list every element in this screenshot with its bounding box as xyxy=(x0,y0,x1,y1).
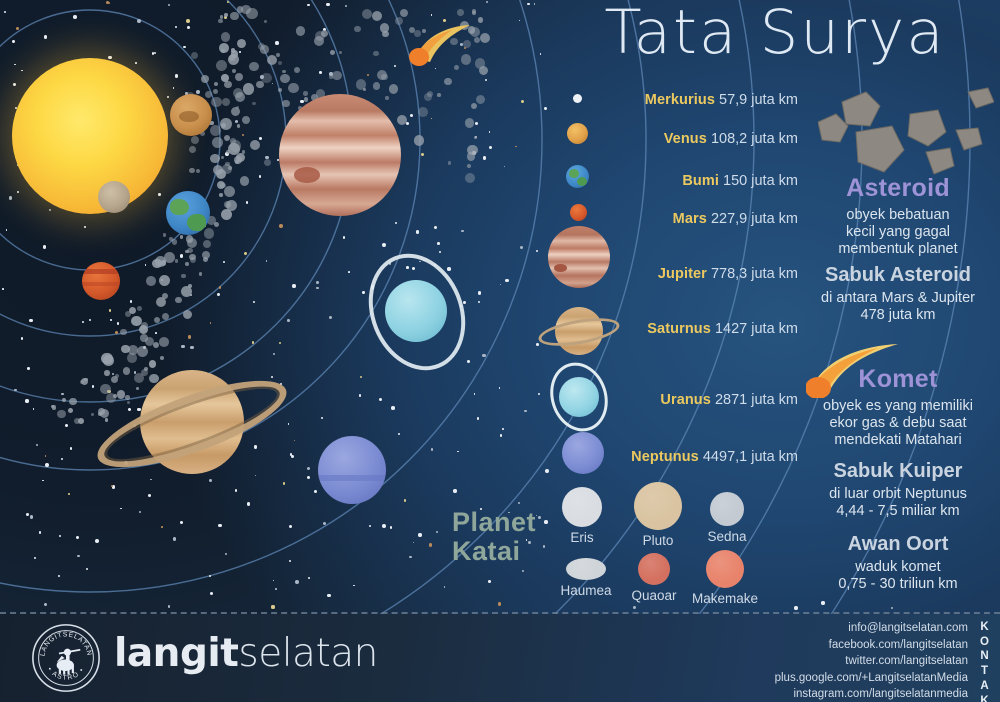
planet-row-saturnus: Saturnus 1427 juta km xyxy=(647,321,798,337)
contact-list: info@langitselatan.comfacebook.com/langi… xyxy=(718,620,968,702)
mercury-list-icon xyxy=(573,94,582,103)
dwarf-planet-quaoar: Quaoar xyxy=(618,553,690,603)
planet-distance: 150 juta km xyxy=(719,173,798,189)
sun-graphic xyxy=(12,58,168,214)
kontak-letter: N xyxy=(976,649,994,664)
contact-line[interactable]: info@langitselatan.com xyxy=(718,620,968,637)
planet-name: Jupiter xyxy=(658,266,707,282)
dwarf-planet-makemake: Makemake xyxy=(689,550,761,606)
sabuk-kuiper-block: Sabuk Kuiper di luar orbit Neptunus 4,44… xyxy=(802,460,994,520)
dwarf-planet-haumea: Haumea xyxy=(550,558,622,598)
mercury-orbit-graphic xyxy=(98,181,130,213)
planet-name: Venus xyxy=(664,131,707,147)
planet-row-uranus: Uranus 2871 juta km xyxy=(660,392,798,408)
planet-row-merkurius: Merkurius 57,9 juta km xyxy=(645,92,798,108)
kontak-letter: T xyxy=(976,664,994,679)
contact-line[interactable]: facebook.com/langitselatan xyxy=(718,637,968,654)
dwarf-planet-label: Eris xyxy=(546,530,618,545)
planet-distance: 778,3 juta km xyxy=(707,266,798,282)
sabuk-kuiper-heading: Sabuk Kuiper xyxy=(802,460,994,483)
earth-orbit-graphic xyxy=(166,191,210,235)
neptunus-list-icon xyxy=(562,432,604,474)
langitselatan-logo-icon: LANGITSELATAN • ASTRO • xyxy=(30,622,102,694)
planet-distance: 1427 juta km xyxy=(711,321,798,337)
dwarf-planet-pluto: Pluto xyxy=(622,482,694,548)
planet-name: Bumi xyxy=(682,173,719,189)
venus-orbit-graphic xyxy=(170,94,212,136)
dwarf-planet-label: Sedna xyxy=(691,529,763,544)
mars-orbit-graphic xyxy=(82,262,120,300)
planet-distance: 227,9 juta km xyxy=(707,211,798,227)
contact-line[interactable]: instagram.com/langitselatanmedia xyxy=(718,686,968,702)
comet-graphic xyxy=(408,22,480,66)
planet-row-neptunus: Neptunus 4497,1 juta km xyxy=(631,449,798,465)
komet-block: Komet obyek es yang memiliki ekor gas & … xyxy=(802,365,994,449)
komet-heading: Komet xyxy=(802,365,994,394)
brand-wordmark: langitselatan xyxy=(114,634,378,673)
planet-name: Neptunus xyxy=(631,449,699,465)
dwarf-planet-disc xyxy=(562,487,602,527)
dwarf-planet-disc xyxy=(634,482,682,530)
dwarf-planet-label: Quaoar xyxy=(618,588,690,603)
sabuk-kuiper-body: di luar orbit Neptunus 4,44 - 7,5 miliar… xyxy=(802,486,994,520)
asteroid-block: Asteroid obyek bebatuan kecil yang gagal… xyxy=(802,174,994,258)
sabuk-asteroid-block: Sabuk Asteroid di antara Mars & Jupiter … xyxy=(802,264,994,324)
dwarf-planet-label: Pluto xyxy=(622,533,694,548)
footer-divider xyxy=(0,612,1000,614)
kontak-letter: O xyxy=(976,635,994,650)
asteroid-heading: Asteroid xyxy=(802,174,994,203)
planet-name: Mars xyxy=(673,211,707,227)
planet-row-jupiter: Jupiter 778,3 juta km xyxy=(658,266,798,282)
planet-distance: 2871 juta km xyxy=(711,392,798,408)
jupiter-list-icon xyxy=(548,226,610,288)
komet-body: obyek es yang memiliki ekor gas & debu s… xyxy=(802,398,994,449)
awan-oort-block: Awan Oort waduk komet 0,75 - 30 triliun … xyxy=(802,533,994,593)
solar-system-infographic: Tata Surya Merkurius 57,9 juta kmVenus 1… xyxy=(0,0,1000,702)
dwarf-planet-disc xyxy=(566,558,606,580)
asteroid-cluster-graphic xyxy=(818,86,994,182)
awan-oort-heading: Awan Oort xyxy=(802,533,994,556)
contact-line[interactable]: twitter.com/langitselatan xyxy=(718,653,968,670)
dwarf-planet-label: Haumea xyxy=(550,583,622,598)
planet-row-bumi: Bumi 150 juta km xyxy=(682,173,798,189)
dwarf-planet-eris: Eris xyxy=(546,487,618,545)
sabuk-asteroid-heading: Sabuk Asteroid xyxy=(802,264,994,287)
planet-distance: 57,9 juta km xyxy=(715,92,798,108)
sabuk-asteroid-body: di antara Mars & Jupiter 478 juta km xyxy=(802,290,994,324)
planet-name: Uranus xyxy=(660,392,711,408)
planet-distance: 108,2 juta km xyxy=(707,131,798,147)
asteroid-body: obyek bebatuan kecil yang gagal membentu… xyxy=(802,207,994,258)
planet-name: Merkurius xyxy=(645,92,715,108)
mars-list-icon xyxy=(570,204,587,221)
dwarf-planet-disc xyxy=(706,550,744,588)
page-title: Tata Surya xyxy=(560,2,990,63)
kontak-vertical-label: KONTAK xyxy=(976,620,994,702)
planet-row-mars: Mars 227,9 juta km xyxy=(673,211,798,227)
planet-row-venus: Venus 108,2 juta km xyxy=(664,131,798,147)
kontak-letter: K xyxy=(976,694,994,702)
earth-list-icon xyxy=(566,165,589,188)
jupiter-orbit-graphic xyxy=(279,94,401,216)
planet-name: Saturnus xyxy=(647,321,711,337)
dwarf-planet-label: Makemake xyxy=(689,591,761,606)
planet-distance: 4497,1 juta km xyxy=(699,449,798,465)
kontak-letter: A xyxy=(976,679,994,694)
venus-list-icon xyxy=(567,123,588,144)
kontak-letter: K xyxy=(976,620,994,635)
dwarf-planet-disc xyxy=(638,553,670,585)
wordmark-bold: langit xyxy=(114,631,238,676)
wordmark-light: selatan xyxy=(238,631,377,676)
dwarf-planet-sedna: Sedna xyxy=(691,492,763,544)
awan-oort-body: waduk komet 0,75 - 30 triliun km xyxy=(802,559,994,593)
contact-line[interactable]: plus.google.com/+LangitselatanMedia xyxy=(718,670,968,687)
neptune-orbit-graphic xyxy=(318,436,386,504)
dwarf-planet-disc xyxy=(710,492,744,526)
